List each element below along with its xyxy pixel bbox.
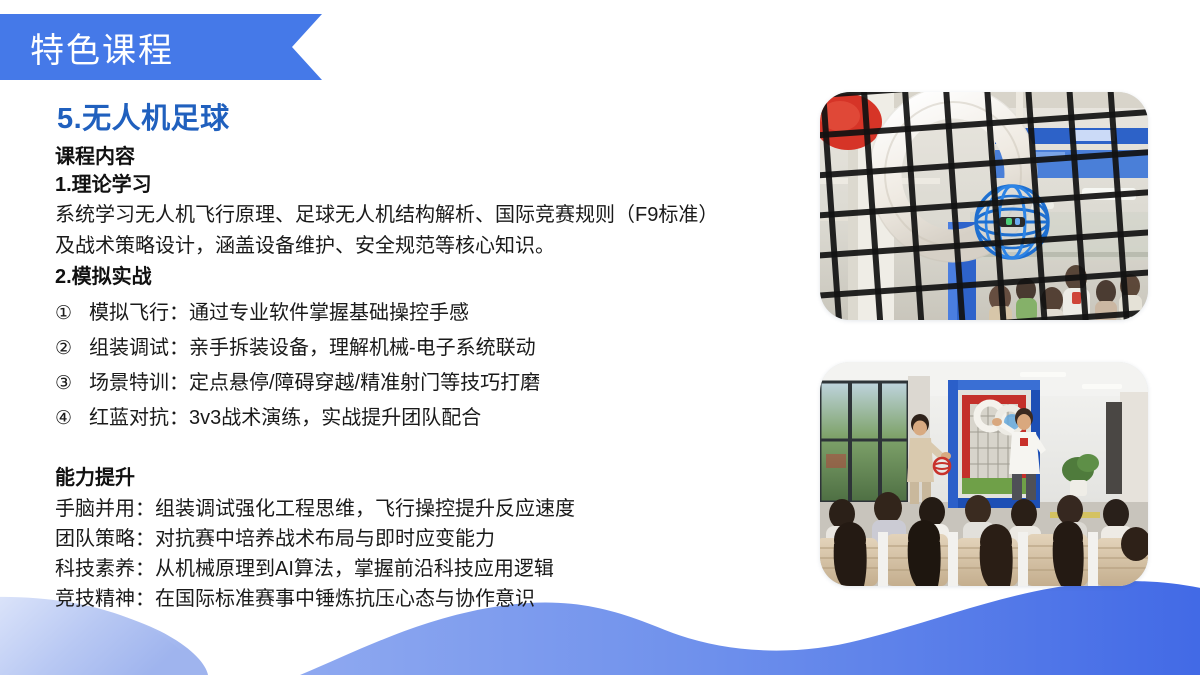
list-item-label: 组装调试：亲手拆装设备，理解机械-电子系统联动 [89, 331, 536, 366]
skill-line: 科技素养：从机械原理到AI算法，掌握前沿科技应用逻辑 [55, 554, 815, 584]
course-content-label: 课程内容 [55, 144, 815, 170]
list-marker-icon: ③ [55, 366, 89, 401]
list-item-label: 模拟飞行：通过专业软件掌握基础操控手感 [89, 296, 469, 331]
list-item: ① 模拟飞行：通过专业软件掌握基础操控手感 [55, 296, 815, 331]
theory-paragraph-line-2: 及战术策略设计，涵盖设备维护、安全规范等核心知识。 [55, 231, 815, 262]
list-item: ② 组装调试：亲手拆装设备，理解机械-电子系统联动 [55, 331, 815, 366]
header-ribbon: 特色课程 [0, 12, 330, 84]
list-marker-icon: ④ [55, 401, 89, 436]
theory-heading: 1.理论学习 [55, 172, 815, 198]
section-title: 特色课程 [30, 12, 174, 82]
theory-paragraph-line-1: 系统学习无人机飞行原理、足球无人机结构解析、国际竞赛规则（F9标准） [55, 200, 815, 231]
section-spacer [55, 436, 815, 464]
list-marker-icon: ① [55, 296, 89, 331]
skills-heading: 能力提升 [55, 464, 815, 492]
skill-line: 团队策略：对抗赛中培养战术布局与即时应变能力 [55, 524, 815, 554]
list-item: ③ 场景特训：定点悬停/障碍穿越/精准射门等技巧打磨 [55, 366, 815, 401]
list-item: ④ 红蓝对抗：3v3战术演练，实战提升团队配合 [55, 401, 815, 436]
list-marker-icon: ② [55, 331, 89, 366]
course-content: 5.无人机足球 课程内容 1.理论学习 系统学习无人机飞行原理、足球无人机结构解… [55, 100, 815, 614]
list-item-label: 红蓝对抗：3v3战术演练，实战提升团队配合 [89, 401, 481, 436]
skill-line: 竞技精神：在国际标准赛事中锤炼抗压心态与协作意识 [55, 584, 815, 614]
classroom-demonstration-image [820, 362, 1148, 586]
practice-list: ① 模拟飞行：通过专业软件掌握基础操控手感 ② 组装调试：亲手拆装设备，理解机械… [55, 296, 815, 436]
slide-root: 特色课程 5.无人机足球 课程内容 1.理论学习 系统学习无人机飞行原理、足球无… [0, 0, 1200, 675]
skill-line: 手脑并用：组装调试强化工程思维，飞行操控提升反应速度 [55, 494, 815, 524]
classroom-demonstration-photo [820, 362, 1148, 586]
practice-heading: 2.模拟实战 [55, 264, 815, 290]
drone-soccer-goal-photo [820, 92, 1148, 320]
course-title: 5.无人机足球 [57, 100, 815, 138]
drone-soccer-goal-image [820, 92, 1148, 320]
list-item-label: 场景特训：定点悬停/障碍穿越/精准射门等技巧打磨 [89, 366, 540, 401]
